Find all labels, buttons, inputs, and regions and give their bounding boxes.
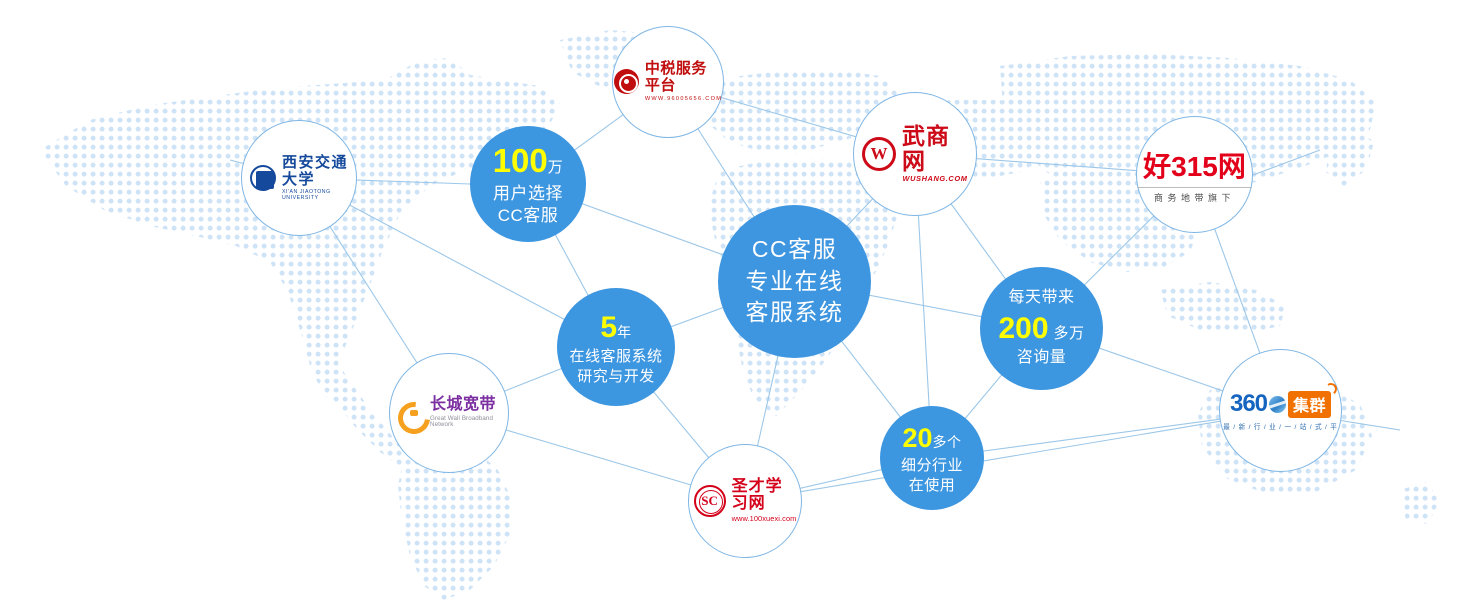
partner-logo-shengcai[interactable]: 圣才学习网 www.100xuexi.com xyxy=(688,444,802,558)
stat-unit: 万 xyxy=(548,159,564,176)
stat-unit: 年 xyxy=(617,324,632,340)
stat-headline: 20多个 xyxy=(886,421,978,456)
partner-logo-hao315[interactable]: 好315网 商务地带旗下 xyxy=(1136,116,1253,233)
stat-number: 100 xyxy=(493,142,548,179)
logo-english: Great Wall Broadband Network xyxy=(430,416,500,429)
stat-number: 20 xyxy=(902,423,932,453)
stat-bubble-years[interactable]: 5年 在线客服系统 研究与开发 xyxy=(557,288,675,406)
wifi-signal-icon xyxy=(1324,382,1338,396)
stat-line2: 在线客服系统 xyxy=(563,347,669,367)
stat-headline: 100万 xyxy=(476,140,580,183)
stat-line1: 每天带来 xyxy=(986,288,1097,309)
stat-line2: 细分行业 xyxy=(886,456,978,476)
stat-unit: 多个 xyxy=(933,434,962,450)
logo-subtitle: 最 / 新 / 行 / 业 / 一 / 站 / 式 / 平 xyxy=(1220,421,1341,431)
hero-line3: 客服系统 xyxy=(724,297,865,329)
stat-number: 200 xyxy=(998,312,1048,345)
logo-name: 中税服务平台 xyxy=(645,60,707,94)
logo-subtitle: 商务地带旗下 xyxy=(1137,187,1252,204)
partner-logo-greatwall[interactable]: 长城宽带 Great Wall Broadband Network xyxy=(389,353,509,473)
infographic-canvas: 西安交通大学 XI'AN JIAOTONG UNIVERSITY 中税服务平台 … xyxy=(0,0,1476,603)
stat-unit: 多万 xyxy=(1054,325,1085,342)
stat-bubble-industries[interactable]: 20多个 细分行业 在使用 xyxy=(880,406,984,510)
logo-name: 西安交通大学 xyxy=(282,154,348,188)
partner-logo-zhongshui[interactable]: 中税服务平台 WWW.96005656.COM xyxy=(612,26,724,138)
stat-headline: 200 多万 xyxy=(986,309,1097,348)
hero-bubble-product[interactable]: CC客服 专业在线 客服系统 xyxy=(718,205,871,358)
target-ring-icon xyxy=(614,69,639,94)
university-seal-icon xyxy=(250,165,276,191)
partner-logo-360jiqun[interactable]: 360 集群 最 / 新 / 行 / 业 / 一 / 站 / 式 / 平 xyxy=(1219,349,1342,472)
logo-url: WWW.96005656.COM xyxy=(645,97,722,103)
stat-line2: 用户选择 xyxy=(476,183,580,205)
hero-line2: 专业在线 xyxy=(724,266,865,298)
partner-logo-xjtu[interactable]: 西安交通大学 XI'AN JIAOTONG UNIVERSITY xyxy=(241,120,357,236)
stat-line3: 研究与开发 xyxy=(563,367,669,387)
stat-bubble-daily-inquiries[interactable]: 每天带来 200 多万 咨询量 xyxy=(980,267,1103,390)
heart-w-circle-icon xyxy=(862,137,896,171)
hero-line1: CC客服 xyxy=(724,234,865,266)
logo-url: WUSHANG.COM xyxy=(902,175,968,183)
stat-line3: CC客服 xyxy=(476,205,580,227)
stat-headline: 5年 xyxy=(563,308,669,347)
logo-url: www.100xuexi.com xyxy=(732,515,797,523)
stat-bubble-users[interactable]: 100万 用户选择 CC客服 xyxy=(470,126,586,242)
logo-name: 武商网 xyxy=(902,124,950,173)
globe-icon xyxy=(1269,396,1286,413)
logo-name: 圣才学习网 xyxy=(732,478,783,512)
logo-name: 好315网 xyxy=(1137,145,1252,185)
stat-number: 5 xyxy=(600,311,617,344)
logo-name: 长城宽带 xyxy=(430,396,496,413)
logo-number: 360 xyxy=(1230,390,1267,418)
stat-line3: 在使用 xyxy=(886,476,978,496)
logo-badge-label: 集群 xyxy=(1293,398,1326,415)
c-swoosh-icon xyxy=(398,402,424,424)
stat-line3: 咨询量 xyxy=(986,348,1097,369)
partner-logo-wushang[interactable]: 武商网 WUSHANG.COM xyxy=(853,92,977,216)
logo-english: XI'AN JIAOTONG UNIVERSITY xyxy=(282,190,348,201)
logo-badge: 集群 xyxy=(1288,391,1331,418)
sc-seal-icon xyxy=(694,485,726,517)
